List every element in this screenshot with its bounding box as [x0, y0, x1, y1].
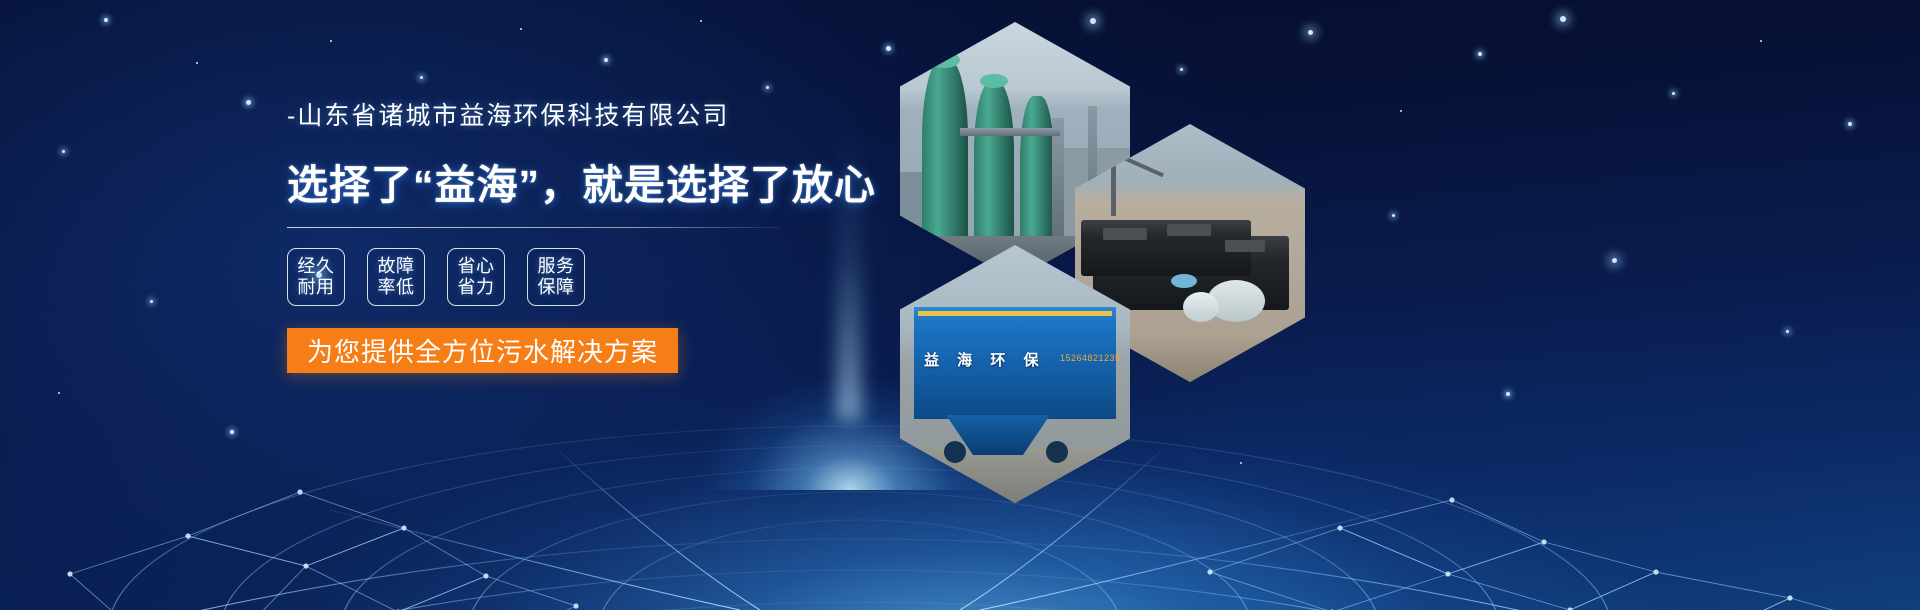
feature-badge-low-failure: 故障 率低 — [367, 248, 425, 306]
star — [104, 18, 108, 22]
star — [58, 392, 60, 394]
hero-banner: -山东省诸城市益海环保科技有限公司 选择了“益海”，就是选择了放心 经久 耐用 … — [0, 0, 1920, 610]
star — [230, 430, 234, 434]
star — [1180, 68, 1183, 71]
star — [604, 58, 608, 62]
ground — [900, 447, 1130, 503]
star — [1560, 16, 1566, 22]
feature-badge-effortless: 省心 省力 — [447, 248, 505, 306]
machine-wheel — [1046, 441, 1068, 463]
tank-hatch — [1167, 224, 1211, 236]
badge-line-2: 省力 — [458, 277, 495, 298]
star — [886, 46, 891, 51]
badge-line-1: 服务 — [538, 256, 575, 277]
star — [150, 300, 153, 303]
scrubber-tower — [1020, 96, 1054, 258]
star — [196, 62, 198, 64]
badge-line-1: 故障 — [378, 256, 415, 277]
hero-headline: 选择了“益海”，就是选择了放心 — [287, 151, 927, 211]
hero-text-block: -山东省诸城市益海环保科技有限公司 选择了“益海”，就是选择了放心 经久 耐用 … — [287, 96, 927, 373]
badge-line-1: 省心 — [458, 256, 495, 277]
star — [1240, 462, 1242, 464]
machine-wheel — [944, 441, 966, 463]
badge-line-1: 经久 — [298, 256, 335, 277]
star — [520, 28, 522, 30]
star — [62, 150, 65, 153]
tower-cap — [980, 74, 1008, 88]
star — [1400, 110, 1402, 112]
pipe — [1052, 118, 1064, 238]
star — [246, 100, 251, 105]
badge-line-2: 率低 — [378, 277, 415, 298]
feature-badge-durable: 经久 耐用 — [287, 248, 345, 306]
feature-badge-service: 服务 保障 — [527, 248, 585, 306]
tank-hatch — [1225, 240, 1265, 252]
star — [1506, 392, 1510, 396]
star — [420, 76, 423, 79]
star — [1672, 92, 1675, 95]
star — [1478, 52, 1482, 56]
badge-line-2: 耐用 — [298, 277, 335, 298]
star — [1786, 330, 1789, 333]
tower-cap — [930, 52, 960, 68]
tank-hatch — [1103, 228, 1147, 240]
star — [1760, 40, 1762, 42]
pipe — [960, 128, 1060, 136]
grp-tank — [1183, 292, 1219, 322]
star — [1392, 214, 1395, 217]
headline-divider — [287, 227, 781, 228]
scrubber-tower — [922, 60, 968, 258]
machine-brand-text: 益 海 环 保 — [924, 349, 1054, 370]
scrubber-tower — [974, 82, 1014, 258]
machine-rail — [918, 311, 1112, 316]
machine-phone-text: 15264821235 — [1060, 353, 1121, 363]
star — [330, 40, 332, 42]
star — [1090, 18, 1096, 24]
company-subtitle: -山东省诸城市益海环保科技有限公司 — [287, 96, 927, 132]
star — [1848, 122, 1852, 126]
badge-line-2: 保障 — [538, 277, 575, 298]
feature-badge-list: 经久 耐用 故障 率低 省心 省力 服务 保障 — [287, 248, 927, 306]
star — [1308, 30, 1313, 35]
star — [766, 86, 769, 89]
cta-banner-button[interactable]: 为您提供全方位污水解决方案 — [287, 328, 678, 373]
star — [1612, 258, 1617, 263]
tank-inlet — [1171, 274, 1197, 288]
star — [700, 20, 702, 22]
machine-body: 益 海 环 保 15264821235 — [914, 323, 1116, 419]
